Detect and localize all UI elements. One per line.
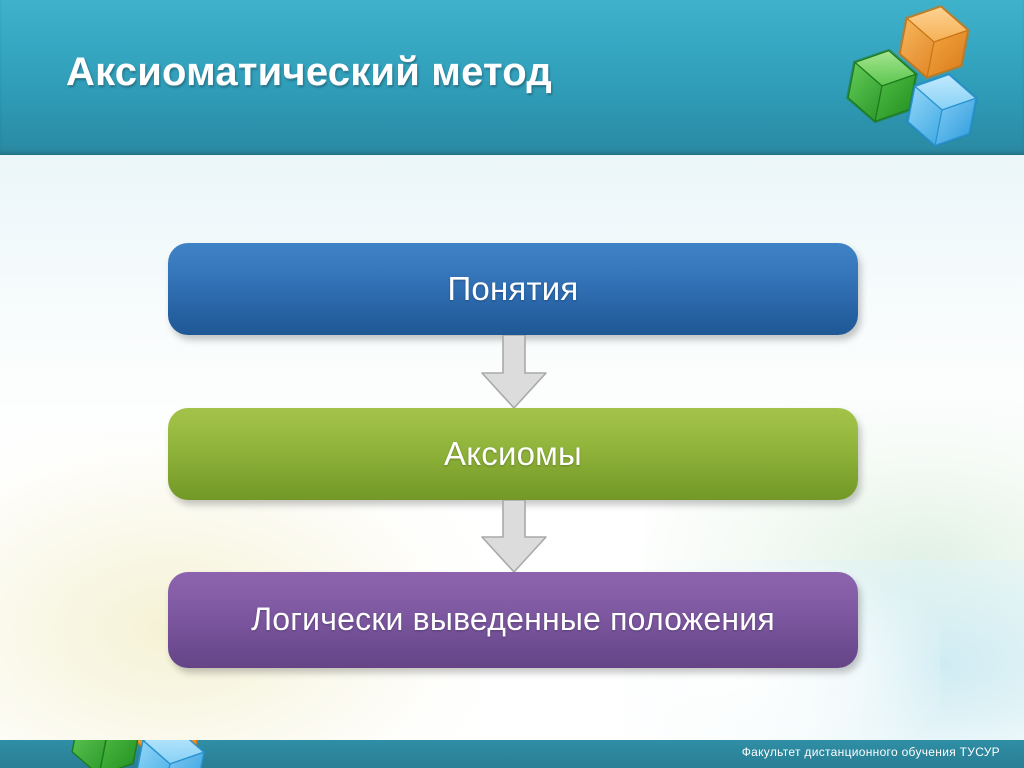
flow-step-2-label: Аксиомы [168, 436, 858, 472]
down-arrow-icon [482, 500, 546, 572]
footer-cube-cluster [48, 740, 248, 768]
flow-step-2[interactable]: Аксиомы [168, 408, 858, 500]
down-arrow-icon [482, 335, 546, 408]
footer-label: Факультет дистанционного обучения ТУСУР [742, 745, 1000, 759]
slide-title: Аксиоматический метод [66, 50, 552, 95]
flow-step-3[interactable]: Логически выведенные положения [168, 572, 858, 668]
header-cube-cluster [842, 2, 1002, 152]
cube-green-icon [69, 740, 144, 768]
slide-header: Аксиоматический метод [0, 0, 1024, 155]
flow-step-1-label: Понятия [168, 271, 858, 307]
flow-step-3-label: Логически выведенные положения [168, 602, 858, 637]
flow-connector-1 [479, 335, 549, 409]
slide-footer: Факультет дистанционного обучения ТУСУР [0, 740, 1024, 768]
flow-connector-2 [479, 500, 549, 573]
slide-canvas: Аксиоматический метод [0, 0, 1024, 768]
flow-step-1[interactable]: Понятия [168, 243, 858, 335]
